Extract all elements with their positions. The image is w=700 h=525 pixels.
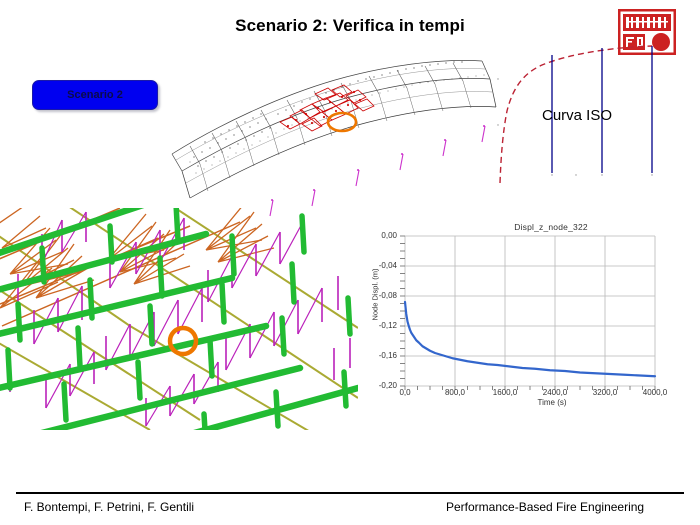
truss-detail-svg [0, 208, 358, 430]
footer-authors: F. Bontempi, F. Petrini, F. Gentili [24, 500, 194, 514]
page-title: Scenario 2: Verifica in tempi [0, 16, 700, 36]
chart-x-tick-label: 3200,0 [583, 388, 627, 397]
3d-roof-structure-wireframe[interactable] [160, 38, 500, 218]
chart-y-tick-label: 0,00 [367, 231, 397, 240]
chart-y-tick-label: -0,12 [367, 321, 397, 330]
chart-x-axis-label: Time (s) [363, 398, 697, 407]
chart-svg [405, 236, 655, 386]
chart-plot-area [405, 236, 655, 386]
chart-x-tick-label: 2400,0 [533, 388, 577, 397]
truss-detail-view[interactable] [0, 208, 358, 430]
scenario-button-label: Scenario 2 [67, 89, 123, 101]
chart-x-tick-label: 1600,0 [483, 388, 527, 397]
scenario-2-button[interactable]: Scenario 2 [32, 80, 158, 110]
chart-gridlines [405, 236, 655, 386]
chart-title: Displ_z_node_322 [363, 222, 697, 232]
chart-x-tick-label: 800,0 [433, 388, 477, 397]
displacement-chart[interactable]: Displ_z_node_322 Node Displ. (m) 0,00-0,… [363, 218, 697, 414]
structure-overview-svg [160, 38, 500, 218]
chart-minor-ticks [400, 236, 655, 390]
chart-y-tick-label: -0,16 [367, 351, 397, 360]
chart-series-line [405, 302, 655, 376]
chart-x-tick-label: 4000,0 [633, 388, 677, 397]
chart-y-tick-label: -0,08 [367, 291, 397, 300]
support-columns [270, 126, 485, 216]
slide-canvas: Scenario 2: Verifica in tempi Sc [0, 0, 700, 525]
footer-subject: Performance-Based Fire Engineering [446, 500, 644, 514]
chart-y-axis-ticks: 0,00-0,04-0,08-0,12-0,16-0,20 [367, 236, 397, 386]
chart-y-tick-label: -0,04 [367, 261, 397, 270]
curva-iso-label: Curva ISO [542, 107, 612, 124]
curva-iso-diagram[interactable]: Curva ISO [490, 35, 690, 190]
chart-x-tick-label: 0,0 [383, 388, 427, 397]
footer-divider [16, 492, 684, 494]
